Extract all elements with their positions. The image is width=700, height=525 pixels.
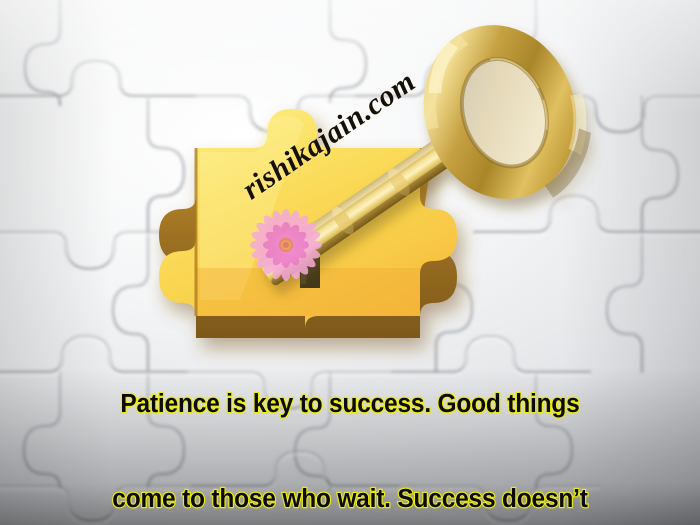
- quote-text: Patience is key to success. Good things …: [14, 326, 686, 525]
- quote-image: rishikajain.com Patience is key to succe…: [0, 0, 700, 525]
- quote-line: come to those who wait. Success doesn’t: [14, 484, 686, 516]
- flower-glow: [248, 207, 326, 285]
- quote-line: Patience is key to success. Good things: [14, 389, 686, 421]
